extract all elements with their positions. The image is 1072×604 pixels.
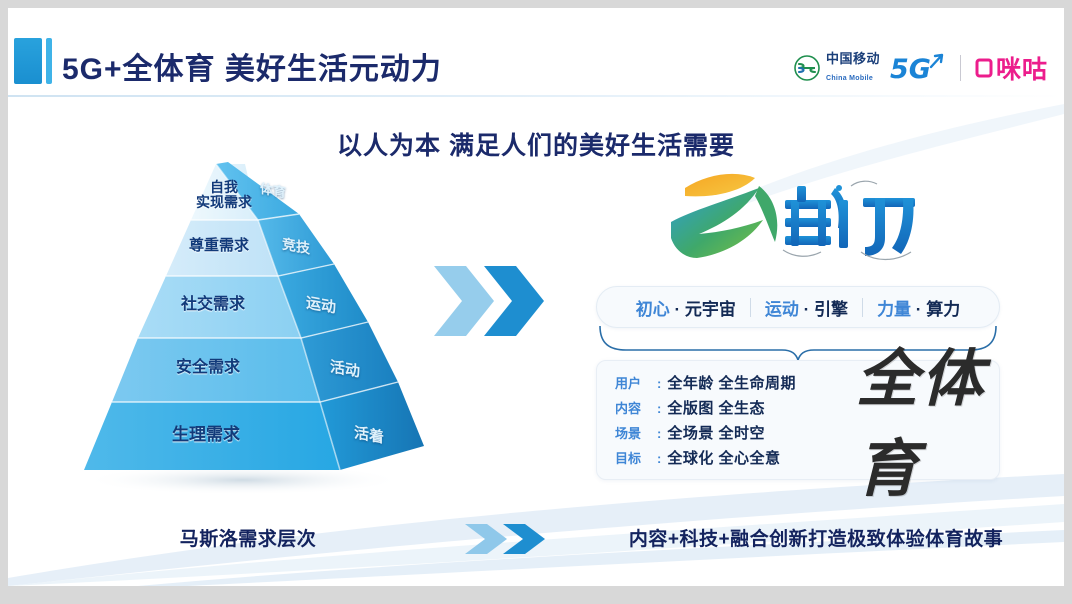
yuandongli-logo [663, 166, 933, 281]
detail-rows: 用户 : 全年龄 全生命周期 内容 : 全版图 全生态 场景 : 全场景 全时空… [615, 372, 796, 472]
five-g-logo: 5G [890, 51, 946, 85]
pill-item-1-suffix: 引擎 [814, 300, 848, 319]
pyramid-front-label-5: 生理需求 [116, 426, 296, 444]
migu-logo: 咪咕 [975, 50, 1048, 86]
china-mobile-wordmark: 中国移动 China Mobile [826, 51, 880, 85]
detail-key-3: 目标 [615, 448, 657, 467]
detail-row-1: 内容 : 全版图 全生态 [615, 397, 796, 422]
detail-row-0: 用户 : 全年龄 全生命周期 [615, 372, 796, 397]
detail-value-0: 全年龄 全生命周期 [667, 372, 796, 393]
detail-colon-2: : [657, 426, 661, 441]
right-caption: 内容+科技+融合创新打造极致体验体育故事 [568, 524, 1064, 551]
pill-item-2-dot: · [916, 300, 922, 319]
pill-item-0-suffix: 元宇宙 [685, 300, 736, 319]
migu-mark-icon [975, 56, 993, 80]
pyramid-front-label-2: 尊重需求 [164, 238, 274, 254]
slide-canvas: 5G+全体育 美好生活元动力 中国移动 China Mobile [8, 8, 1064, 586]
pyramid-front-label-3: 社交需求 [150, 297, 276, 314]
detail-value-3: 全球化 全心全意 [667, 447, 780, 468]
pill-item-1-dot: · [804, 300, 810, 319]
detail-key-2: 场景 [615, 423, 657, 442]
china-mobile-cn-text: 中国移动 [826, 51, 880, 66]
slide-subtitle: 以人为本 满足人们的美好生活需要 [8, 126, 1064, 162]
migu-wordmark: 咪咕 [996, 50, 1048, 86]
calligraphy-quanti-yu: 全体育 [856, 366, 1046, 470]
brand-lockup: 中国移动 China Mobile 5G 咪咕 [794, 48, 1048, 88]
china-mobile-mark-icon [794, 55, 820, 81]
page-title: 5G+全体育 美好生活元动力 [62, 44, 442, 88]
pyramid-caption: 马斯洛需求层次 [68, 524, 428, 551]
detail-key-0: 用户 [615, 373, 657, 392]
pyramid-front-label-1-line1: 自我 [210, 179, 238, 195]
pill-item-0-prefix: 初心 [636, 300, 670, 319]
pyramid-front-label-4: 安全需求 [134, 360, 282, 377]
detail-colon-3: : [657, 451, 661, 466]
detail-value-1: 全版图 全生态 [667, 397, 765, 418]
svg-text:5G: 5G [890, 54, 931, 85]
detail-row-3: 目标 : 全球化 全心全意 [615, 447, 796, 472]
pyramid-front-label-1: 自我 实现需求 [176, 180, 272, 209]
pyramid-front-label-1-line2: 实现需求 [196, 194, 252, 210]
header-accent-block [14, 38, 42, 84]
pill-item-1: 运动 · 引擎 [751, 295, 862, 320]
pill-item-2-suffix: 算力 [926, 300, 960, 319]
detail-colon-0: : [657, 376, 661, 391]
maslow-pyramid: 自我 实现需求 尊重需求 社交需求 安全需求 生理需求 体育 竞技 运动 活动 … [68, 158, 428, 498]
pill-item-1-prefix: 运动 [765, 300, 799, 319]
detail-colon-1: : [657, 401, 661, 416]
feature-pill-bar: 初心 · 元宇宙 运动 · 引擎 力量 · 算力 [596, 286, 1000, 328]
middle-double-chevron-icon [432, 260, 548, 347]
pill-item-0-dot: · [675, 300, 681, 319]
pill-item-2: 力量 · 算力 [863, 295, 974, 320]
detail-value-2: 全场景 全时空 [667, 422, 765, 443]
brand-divider [960, 55, 961, 81]
header-divider [8, 95, 1064, 97]
detail-key-1: 内容 [615, 398, 657, 417]
china-mobile-en-text: China Mobile [826, 75, 873, 82]
bottom-double-chevron-icon [463, 521, 549, 562]
detail-row-2: 场景 : 全场景 全时空 [615, 422, 796, 447]
pill-item-0: 初心 · 元宇宙 [622, 295, 750, 320]
slide-header: 5G+全体育 美好生活元动力 中国移动 China Mobile [8, 8, 1064, 96]
pill-item-2-prefix: 力量 [877, 300, 911, 319]
header-accent-bar [46, 38, 52, 84]
china-mobile-logo: 中国移动 China Mobile [794, 51, 880, 85]
